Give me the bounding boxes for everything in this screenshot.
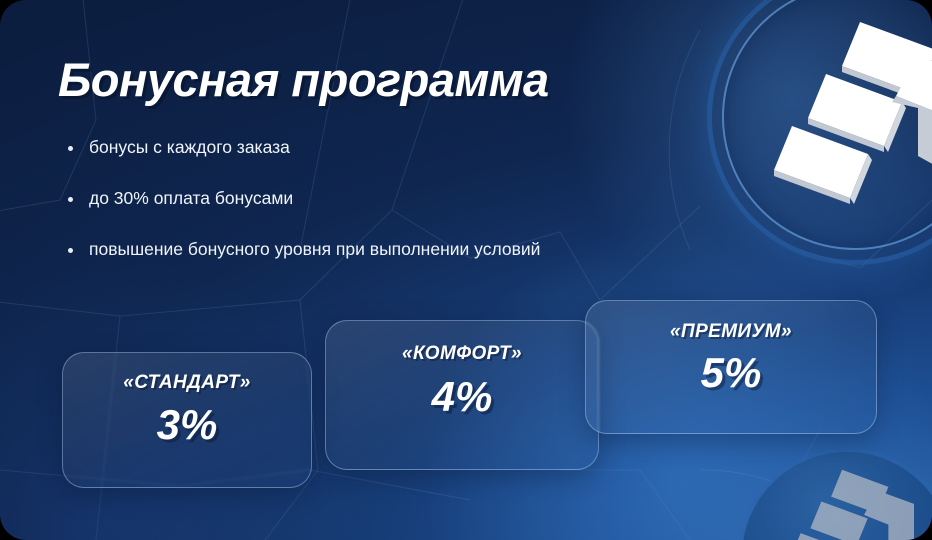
list-item: бонусы с каждого заказа [62, 136, 762, 159]
bullet-dot-icon [68, 146, 73, 151]
list-item-label: повышение бонусного уровня при выполнени… [89, 238, 540, 261]
list-item-label: бонусы с каждого заказа [89, 136, 290, 159]
logo-badge-secondary [742, 452, 932, 540]
page-title: Бонусная программа [58, 52, 549, 107]
tier-card-comfort[interactable]: «КОМФОРТ» 4% [325, 320, 599, 470]
tier-percent: 3% [63, 401, 311, 449]
company-logo-mark-secondary [786, 466, 914, 540]
tier-name: «КОМФОРТ» [326, 343, 598, 365]
company-logo-mark [768, 16, 932, 206]
bonus-program-banner: Бонусная программа бонусы с каждого зака… [0, 0, 932, 540]
list-item: до 30% оплата бонусами [62, 187, 762, 210]
tier-card-premium[interactable]: «ПРЕМИУМ» 5% [585, 300, 877, 434]
tier-percent: 5% [586, 349, 876, 397]
list-item: повышение бонусного уровня при выполнени… [62, 238, 762, 261]
list-item-label: до 30% оплата бонусами [89, 187, 293, 210]
bullet-dot-icon [68, 197, 73, 202]
tier-percent: 4% [326, 373, 598, 421]
benefits-list: бонусы с каждого заказа до 30% оплата бо… [62, 136, 762, 288]
tier-name: «СТАНДАРТ» [63, 372, 311, 394]
bullet-dot-icon [68, 248, 73, 253]
tier-name: «ПРЕМИУМ» [586, 321, 876, 343]
tier-card-standard[interactable]: «СТАНДАРТ» 3% [62, 352, 312, 488]
